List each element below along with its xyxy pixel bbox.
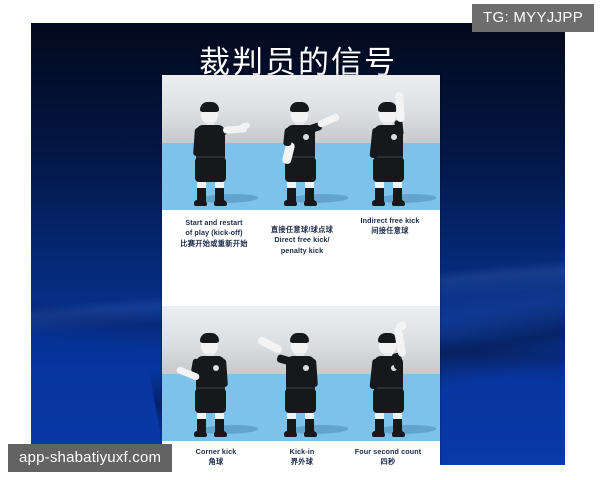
figure-hair [200, 333, 219, 343]
caption-chinese: 界外球 [252, 457, 352, 465]
caption-chinese: 四秒 [338, 457, 438, 465]
figure-resting-arm [309, 359, 318, 387]
figure-hair [200, 102, 219, 112]
scene-row-1 [162, 75, 440, 210]
caption-english-line1: Kick-in [252, 447, 352, 457]
referee-figure-direct-free-kick [264, 94, 338, 206]
referee-figure-kick-in [264, 325, 338, 437]
figure-badge [213, 365, 219, 371]
caption-english-line1: Corner kick [166, 447, 266, 457]
figure-badge [303, 365, 309, 371]
figure-hair [290, 102, 309, 112]
figure-resting-arm [219, 359, 228, 387]
figure-shoe-right [214, 200, 227, 206]
telegram-watermark: TG: MYYJJPP [472, 4, 594, 32]
figure-shoe-left [372, 200, 385, 206]
figure-shoe-right [304, 200, 317, 206]
figure-sleeve-raised [394, 120, 404, 137]
figure-shoe-left [284, 431, 297, 437]
caption-english-line2: penalty kick [252, 246, 352, 256]
caption-chinese: 间接任意球 [340, 226, 440, 236]
caption-direct-free-kick: 直接任意球/球点球 Direct free kick/ penalty kick [252, 225, 352, 256]
figure-shorts [373, 389, 404, 413]
caption-indirect-free-kick: Indirect free kick 间接任意球 [340, 216, 440, 237]
signal-row-1: Start and restart of play (kick-off) 比赛开… [162, 75, 440, 280]
caption-english-line1: Four second count [338, 447, 438, 457]
referee-figure-kick-off [174, 94, 248, 206]
caption-chinese: 直接任意球/球点球 [252, 225, 352, 235]
figure-shorts [195, 158, 226, 182]
figure-shoe-left [194, 200, 207, 206]
signal-row-2: Corner kick 角球 Kick-in 界外球 Four second c… [162, 306, 440, 465]
figure-hair [378, 102, 397, 112]
caption-strip-row-1: Start and restart of play (kick-off) 比赛开… [162, 210, 440, 280]
caption-chinese: 角球 [166, 457, 266, 465]
figure-shoe-left [372, 431, 385, 437]
caption-kick-off: Start and restart of play (kick-off) 比赛开… [164, 218, 264, 249]
referee-signals-image: Start and restart of play (kick-off) 比赛开… [162, 75, 440, 465]
caption-strip-row-2: Corner kick 角球 Kick-in 界外球 Four second c… [162, 441, 440, 465]
caption-chinese: 比赛开始或重新开始 [164, 239, 264, 249]
caption-english-line1: Indirect free kick [340, 216, 440, 226]
figure-shorts [373, 158, 404, 182]
figure-shoe-right [214, 431, 227, 437]
presentation-slide: 裁判员的信号 [31, 23, 565, 465]
figure-hair [290, 333, 309, 343]
figure-shoe-right [392, 200, 405, 206]
panel-gap [162, 280, 440, 306]
caption-kick-in: Kick-in 界外球 [252, 447, 352, 465]
caption-english-line1: Start and restart [164, 218, 264, 228]
referee-figure-four-second-count [352, 325, 426, 437]
referee-figure-corner-kick [174, 325, 248, 437]
figure-shoe-right [304, 431, 317, 437]
scene-row-2 [162, 306, 440, 441]
figure-shoe-left [194, 431, 207, 437]
caption-corner-kick: Corner kick 角球 [166, 447, 266, 465]
site-watermark: app-shabatiyuxf.com [8, 444, 172, 472]
figure-extended-arm [395, 92, 405, 122]
figure-shoe-left [284, 200, 297, 206]
figure-shoe-right [392, 431, 405, 437]
figure-extended-arm [317, 113, 341, 129]
referee-figure-indirect-free-kick [352, 94, 426, 206]
caption-english-line1: Direct free kick/ [252, 235, 352, 245]
figure-shorts [195, 389, 226, 413]
figure-shorts [285, 389, 316, 413]
caption-english-line2: of play (kick-off) [164, 228, 264, 238]
caption-four-second-count: Four second count 四秒 [338, 447, 438, 465]
figure-badge [303, 134, 309, 140]
